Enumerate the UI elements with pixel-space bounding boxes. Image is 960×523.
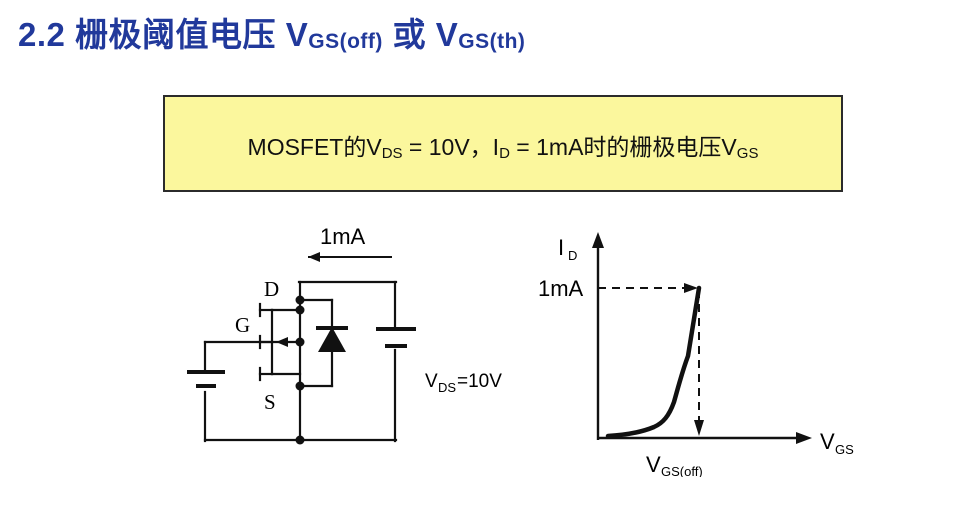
statement-box: MOSFET的VDS = 10V，ID = 1mA时的栅极电压VGS (163, 95, 843, 192)
y-axis (592, 232, 604, 440)
svg-text:V: V (820, 429, 835, 454)
transfer-curve-path (608, 288, 699, 436)
statement-part-1: MOSFET的V (248, 134, 382, 160)
y-axis-title: I D (558, 235, 577, 263)
title-vgs-th-letter: V (436, 16, 459, 53)
title-vgs-th-subscript: GS(th) (458, 30, 525, 53)
svg-text:I: I (558, 235, 564, 260)
vds-supply-label: V DS =10V (425, 371, 502, 395)
svg-text:V: V (425, 371, 438, 392)
svg-text:V: V (646, 452, 661, 477)
current-arrow-icon (308, 252, 392, 262)
title-vgs-off-letter: V (286, 16, 309, 53)
current-label: 1mA (320, 224, 366, 249)
body-diode-icon (300, 300, 348, 386)
statement-text: MOSFET的VDS = 10V，ID = 1mA时的栅极电压VGS (165, 128, 841, 162)
title-main-text: 栅极阈值电压 (75, 16, 276, 53)
guide-1ma-horizontal (598, 283, 698, 293)
svg-text:GS(off): GS(off) (661, 464, 703, 477)
title-number: 2.2 (18, 16, 65, 53)
gate-label: G (235, 313, 250, 337)
statement-part-3: = 1mA时的栅极电压V (510, 134, 737, 160)
y-tick-1ma: 1mA (538, 276, 584, 301)
x-axis-title: V GS (820, 429, 854, 457)
mosfet-circuit-figure: 1mA (180, 222, 540, 472)
statement-id-subscript: D (499, 145, 510, 162)
transfer-curve-chart: 1mA I D V GS V GS(off) (530, 222, 890, 477)
drain-battery-icon (376, 329, 416, 346)
statement-vds-subscript: DS (382, 145, 403, 162)
svg-text:DS: DS (438, 380, 456, 395)
svg-text:D: D (568, 248, 577, 263)
title-vgs-off-subscript: GS(off) (308, 30, 383, 53)
vgs-off-annotation: V GS(off) (646, 452, 703, 477)
source-label: S (264, 390, 276, 414)
svg-text:GS: GS (835, 442, 854, 457)
svg-text:=10V: =10V (457, 371, 502, 392)
statement-vgs-subscript: GS (737, 145, 759, 162)
page-title: 2.2 栅极阈值电压 VGS(off) 或 VGS(th) (18, 8, 525, 56)
gate-battery-icon (187, 372, 225, 386)
mosfet-symbol (260, 304, 300, 380)
drain-label: D (264, 277, 279, 301)
statement-part-2: = 10V，I (403, 134, 500, 160)
title-conjunction: 或 (393, 16, 427, 53)
